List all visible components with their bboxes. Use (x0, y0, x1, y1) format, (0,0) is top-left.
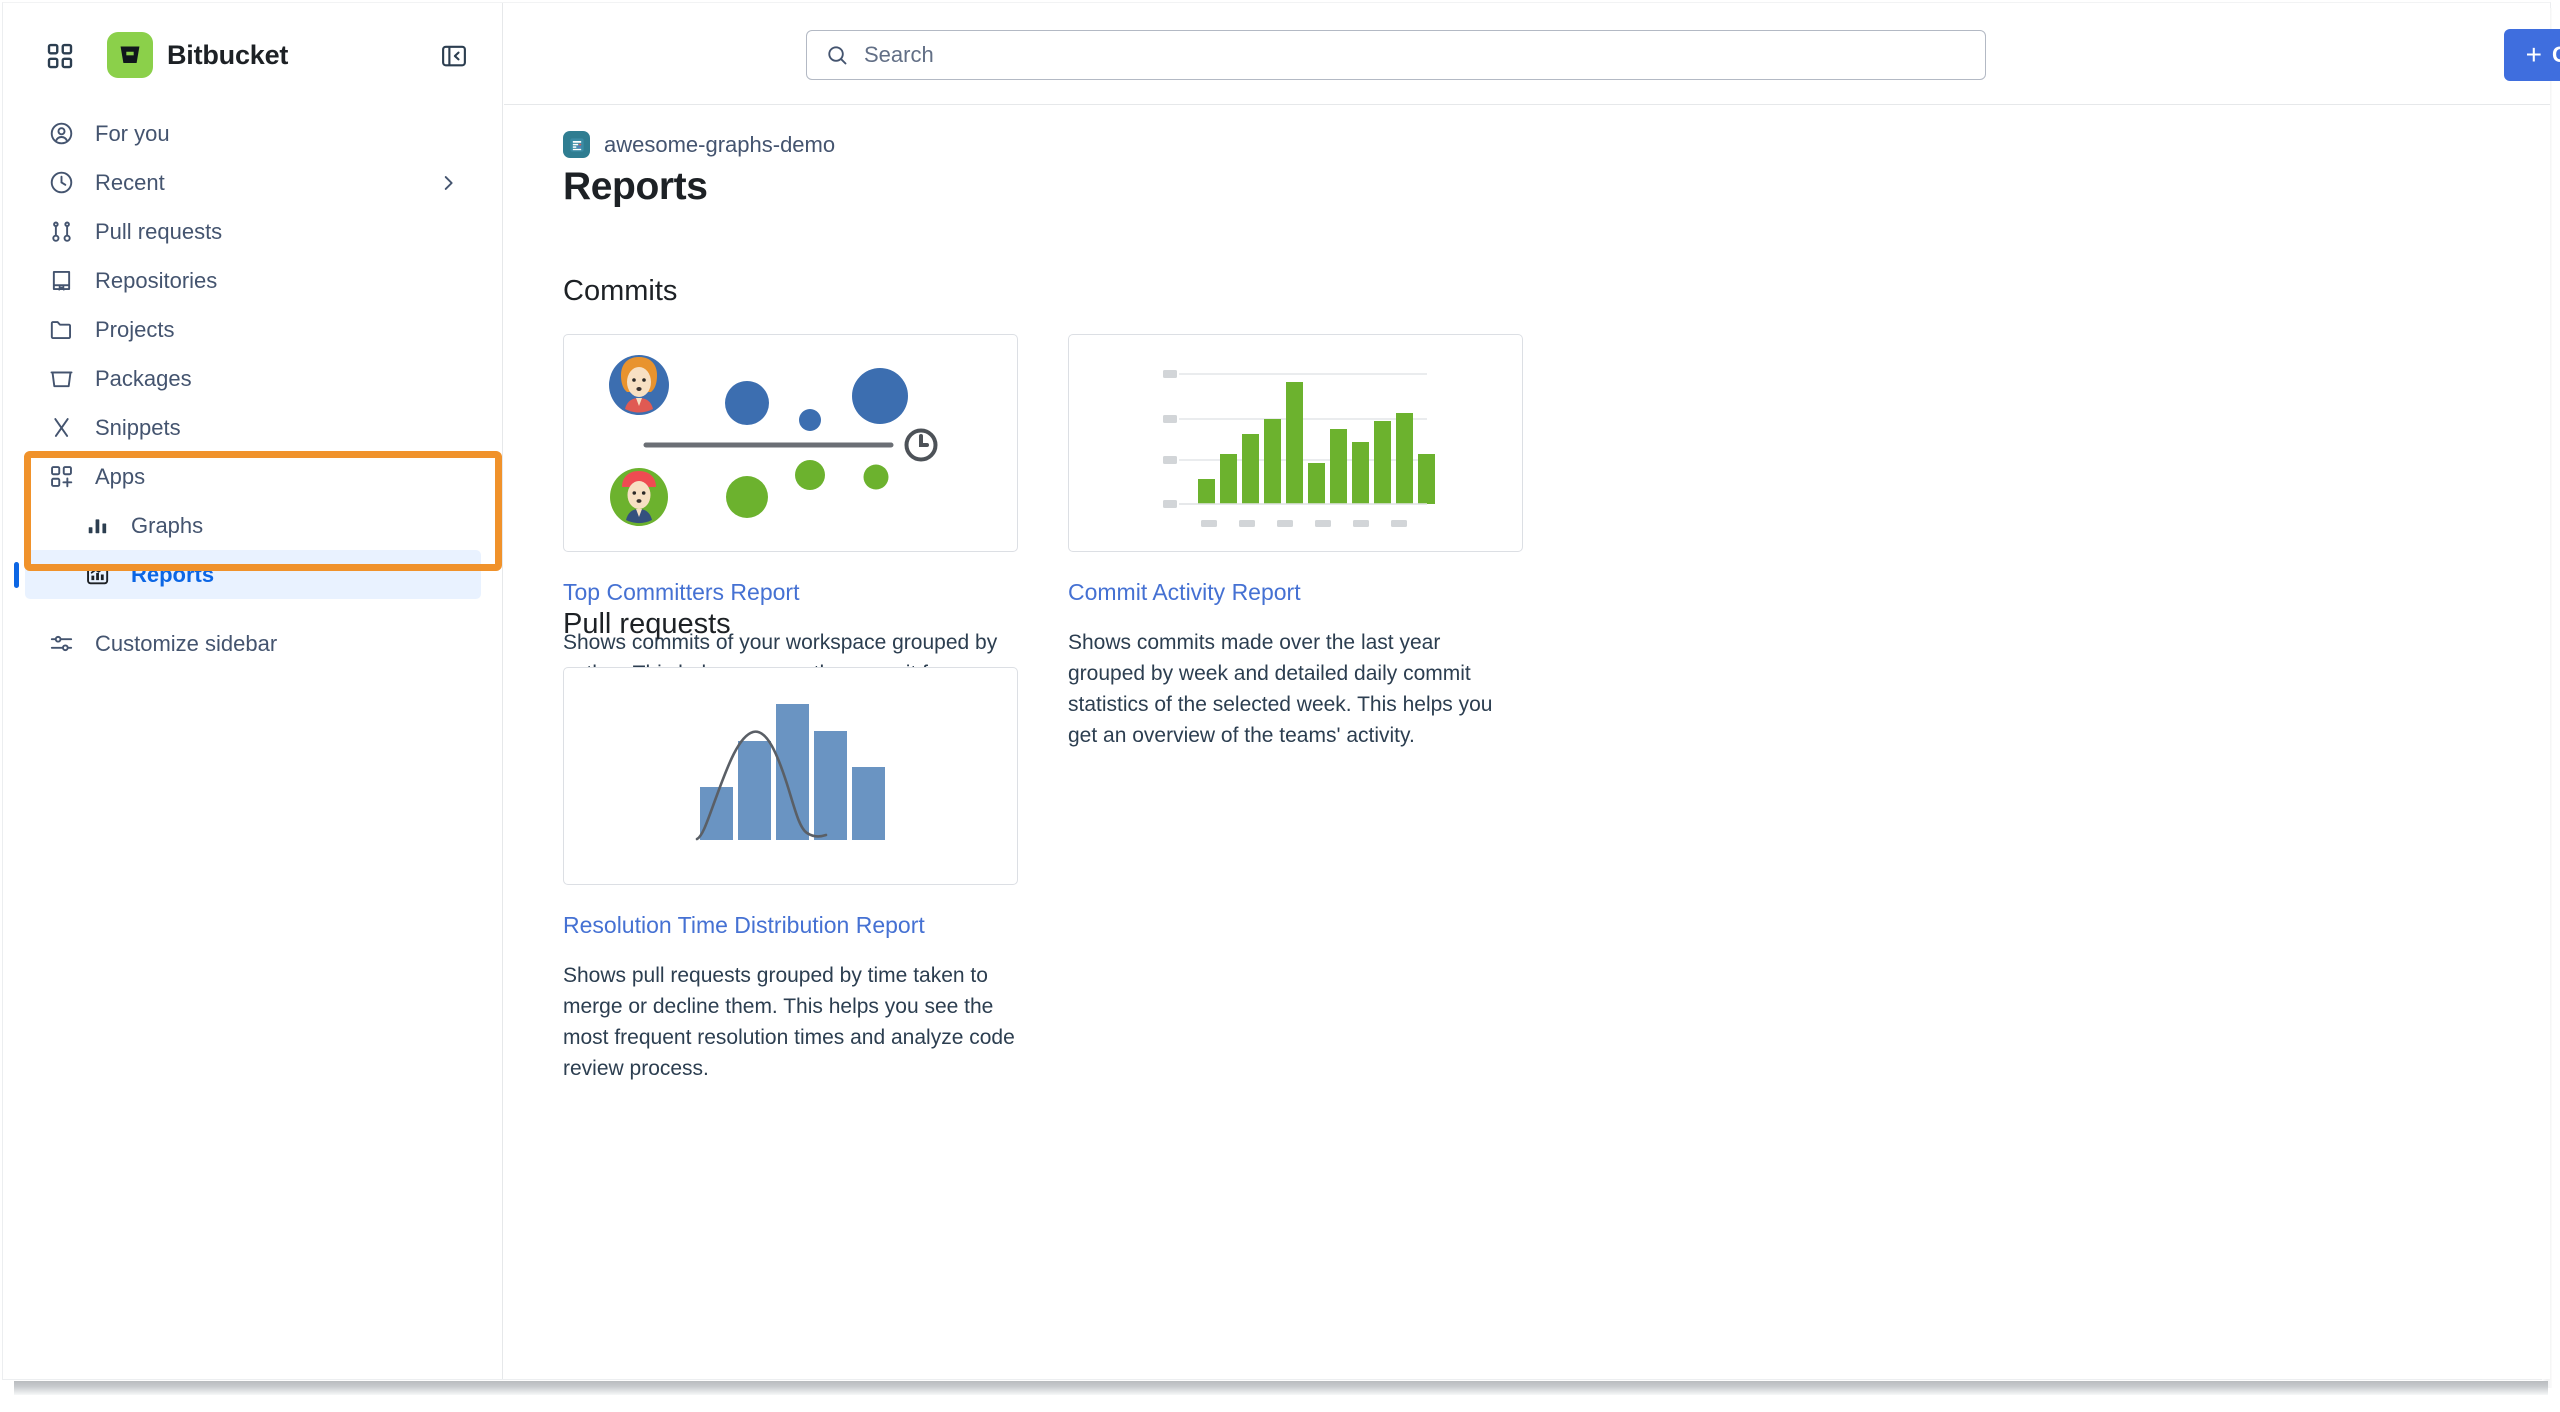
sidebar-item-graphs[interactable]: Graphs (25, 501, 481, 550)
sidebar-item-snippets[interactable]: Snippets (25, 403, 481, 452)
collapse-sidebar-icon[interactable] (439, 41, 469, 71)
sidebar-item-label: For you (95, 121, 170, 147)
resolution-time-thumbnail[interactable] (563, 667, 1018, 885)
clock-icon (47, 169, 75, 197)
selected-indicator (14, 562, 19, 588)
top-committers-bubble-chart (564, 335, 1018, 552)
sidebar-spacer (3, 599, 503, 619)
report-card-commit-activity: Commit Activity Report Shows commits mad… (1068, 334, 1523, 751)
sidebar: Bitbucket For you (3, 3, 503, 1379)
top-committers-thumbnail[interactable] (563, 334, 1018, 552)
commit-activity-bar-chart (1069, 335, 1523, 552)
page-title: Reports (563, 165, 708, 209)
sidebar-item-label: Recent (95, 170, 165, 196)
sidebar-item-label: Snippets (95, 415, 181, 441)
sidebar-item-reports[interactable]: Reports (25, 550, 481, 599)
person-circle-icon (47, 120, 75, 148)
section-title: Pull requests (563, 608, 1018, 641)
breadcrumb[interactable]: awesome-graphs-demo (563, 131, 835, 158)
report-card-title-link[interactable]: Resolution Time Distribution Report (563, 912, 1018, 939)
bitbucket-logo-icon[interactable] (107, 32, 153, 78)
breadcrumb-repo-name: awesome-graphs-demo (604, 132, 835, 158)
sidebar-item-projects[interactable]: Projects (25, 305, 481, 354)
sidebar-header: Bitbucket (3, 3, 503, 109)
repository-avatar-icon (563, 131, 590, 158)
create-button[interactable]: + Create (2504, 29, 2560, 81)
apps-plus-icon (47, 463, 75, 491)
commit-activity-thumbnail[interactable] (1068, 334, 1523, 552)
browser-window: Bitbucket For you (0, 0, 2560, 1412)
section-title: Commits (563, 275, 1523, 308)
sidebar-item-for-you[interactable]: For you (25, 109, 481, 158)
sidebar-item-label: Graphs (131, 513, 203, 539)
sidebar-item-label: Pull requests (95, 219, 222, 245)
sidebar-item-repositories[interactable]: Repositories (25, 256, 481, 305)
report-card-title-link[interactable]: Top Committers Report (563, 579, 1018, 606)
report-card-title-link[interactable]: Commit Activity Report (1068, 579, 1523, 606)
report-card-resolution-time: Resolution Time Distribution Report Show… (563, 667, 1018, 1084)
search-icon (825, 43, 850, 68)
sidebar-item-label: Projects (95, 317, 174, 343)
snippet-scissors-icon (47, 414, 75, 442)
sidebar-item-apps[interactable]: Apps (25, 452, 481, 501)
report-card-description: Shows pull requests grouped by time take… (563, 960, 1018, 1084)
report-card-description: Shows commits made over the last year gr… (1068, 627, 1523, 751)
brand-name: Bitbucket (167, 40, 288, 71)
chevron-right-icon[interactable] (437, 172, 459, 194)
window-bottom-shadow (14, 1381, 2548, 1395)
plus-icon: + (2526, 41, 2542, 69)
sidebar-item-label: Apps (95, 464, 145, 490)
main-content: awesome-graphs-demo Reports Commits (504, 105, 2550, 1379)
top-bar: + Create (504, 3, 2550, 105)
report-chart-icon (83, 561, 111, 589)
sidebar-item-customize-sidebar[interactable]: Customize sidebar (25, 619, 481, 668)
sidebar-nav: For you Recent (3, 109, 503, 668)
sidebar-item-packages[interactable]: Packages (25, 354, 481, 403)
sidebar-item-label: Packages (95, 366, 192, 392)
search-box[interactable] (806, 30, 1986, 80)
resolution-time-histogram (564, 668, 1018, 885)
folder-icon (47, 316, 75, 344)
sidebar-item-recent[interactable]: Recent (25, 158, 481, 207)
pull-request-icon (47, 218, 75, 246)
create-button-label: Create (2552, 42, 2560, 68)
card-grid: Resolution Time Distribution Report Show… (563, 667, 1018, 1084)
bar-chart-icon (83, 512, 111, 540)
sidebar-item-label: Customize sidebar (95, 631, 277, 657)
search-input[interactable] (864, 40, 1944, 70)
sliders-icon (47, 630, 75, 658)
sidebar-item-label: Repositories (95, 268, 217, 294)
package-icon (47, 365, 75, 393)
app-switcher-icon[interactable] (45, 41, 75, 71)
sidebar-item-label: Reports (131, 562, 214, 588)
sidebar-item-pull-requests[interactable]: Pull requests (25, 207, 481, 256)
section-pull-requests: Pull requests (563, 608, 1018, 1084)
repository-icon (47, 267, 75, 295)
